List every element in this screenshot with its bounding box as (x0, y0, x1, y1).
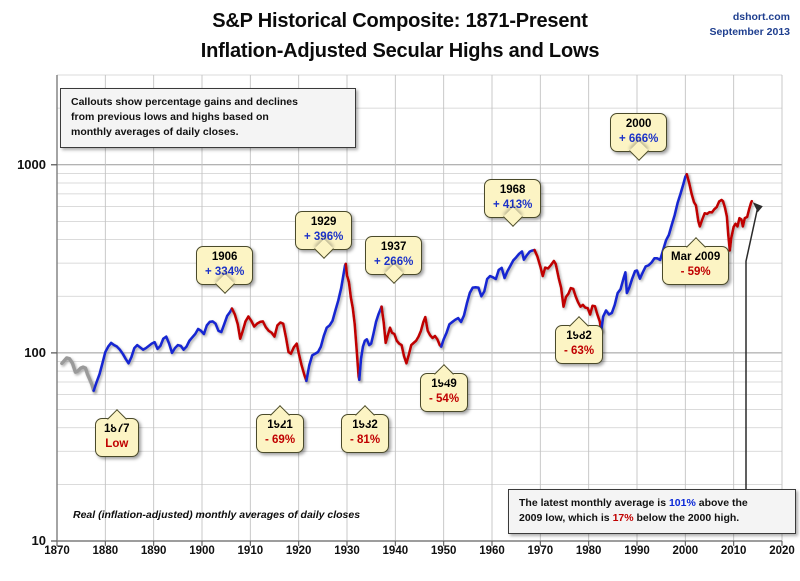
x-axis-tick-label: 1970 (515, 545, 565, 557)
series-line (94, 309, 232, 391)
callout-a1937: 1937+ 266% (365, 236, 422, 275)
x-axis-tick-label: 1990 (612, 545, 662, 557)
y-axis-tick-label: 100 (0, 345, 46, 360)
methodology-note-line-1: Callouts show percentage gains and decli… (71, 95, 345, 110)
x-axis-tick-label: 2020 (757, 545, 800, 557)
methodology-note-line-3: monthly averages of daily closes. (71, 125, 345, 140)
series-line (359, 307, 381, 380)
status-decline-value: 17% (613, 512, 634, 524)
series-line (382, 307, 442, 364)
current-status-line-2: 2009 low, which is 17% below the 2000 hi… (519, 511, 785, 526)
series-line (62, 358, 94, 391)
status-text-pre-1: The latest monthly average is (519, 497, 669, 509)
series-line (232, 309, 306, 381)
callout-a1982: 1982- 63% (555, 325, 603, 364)
y-axis-tick-label: 1000 (0, 157, 46, 172)
x-axis-tick-label: 1920 (274, 545, 324, 557)
x-axis-tick-label: 2010 (709, 545, 759, 557)
x-axis-tick-label: 1980 (564, 545, 614, 557)
x-axis-tick-label: 1880 (80, 545, 130, 557)
x-axis-tick-label: 1930 (322, 545, 372, 557)
current-status-note-box: The latest monthly average is 101% above… (508, 489, 796, 534)
series-line (535, 250, 602, 331)
status-text-post-1: above the (696, 497, 748, 509)
x-axis-tick-label: 1950 (419, 545, 469, 557)
methodology-note-line-2: from previous lows and highs based on (71, 110, 345, 125)
methodology-note-box: Callouts show percentage gains and decli… (60, 88, 356, 148)
callout-a1968: 1968+ 413% (484, 179, 541, 218)
callout-percent: Low (104, 437, 130, 452)
x-axis-tick-label: 1900 (177, 545, 227, 557)
series-line (306, 264, 345, 381)
x-axis-tick-label: 1910 (225, 545, 275, 557)
callout-a1929: 1929+ 396% (295, 211, 352, 250)
callout-percent: - 63% (564, 344, 594, 359)
callout-a2009: Mar 2009- 59% (662, 246, 729, 285)
callout-percent: - 69% (265, 433, 295, 448)
callout-year: 2000 (619, 117, 658, 132)
callout-a1906: 1906+ 334% (196, 246, 253, 285)
chart-footnote: Real (inflation-adjusted) monthly averag… (73, 509, 360, 521)
x-axis-tick-label: 1960 (467, 545, 517, 557)
status-text-post-2: below the 2000 high. (634, 512, 740, 524)
series-line (441, 250, 534, 347)
callout-a1877: 1877Low (95, 418, 139, 457)
x-axis-tick-label: 1940 (370, 545, 420, 557)
callout-percent: - 59% (671, 265, 720, 280)
current-status-line-1: The latest monthly average is 101% above… (519, 496, 785, 511)
callout-year: 1968 (493, 183, 532, 198)
status-text-pre-2: 2009 low, which is (519, 512, 613, 524)
callout-percent: - 54% (429, 392, 459, 407)
callout-year: 1929 (304, 215, 343, 230)
callout-a2000: 2000+ 666% (610, 113, 667, 152)
status-gain-value: 101% (669, 497, 696, 509)
callout-year: 1937 (374, 240, 413, 255)
series-line (346, 264, 360, 380)
callout-a1932: 1932- 81% (341, 414, 389, 453)
callout-a1921: 1921- 69% (256, 414, 304, 453)
callout-a1949: 1949- 54% (420, 373, 468, 412)
x-axis-tick-label: 1870 (32, 545, 82, 557)
chart-root: S&P Historical Composite: 1871-Present I… (0, 0, 800, 581)
callout-percent: - 81% (350, 433, 380, 448)
x-axis-tick-label: 1890 (129, 545, 179, 557)
current-value-pointer (746, 202, 763, 489)
x-axis-tick-label: 2000 (660, 545, 710, 557)
callout-year: 1906 (205, 250, 244, 265)
